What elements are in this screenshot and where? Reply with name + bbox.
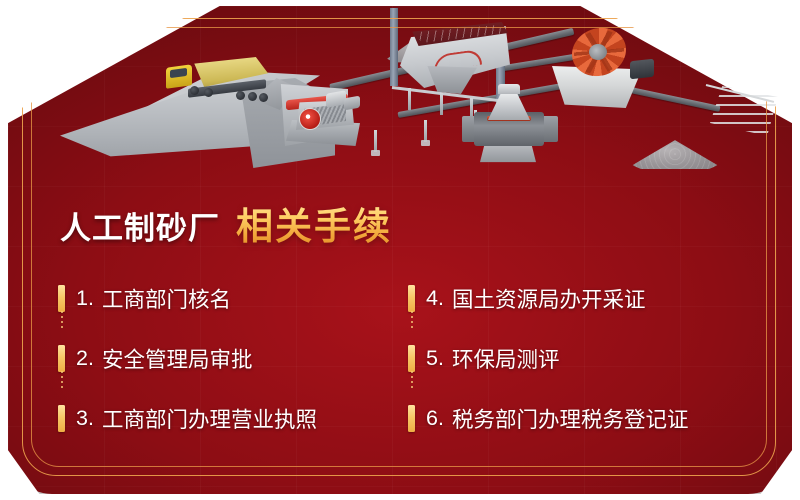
title-primary: 人工制砂厂 [60,203,220,248]
list-item[interactable]: 3. 工商部门办理营业执照 [58,388,408,448]
list-item[interactable]: 4. 国土资源局办开采证 [408,268,758,328]
list-item-number: 5. [426,346,444,371]
list-item-number: 3. [76,406,94,431]
bullet-bar-icon [58,285,65,312]
list-item-number: 1. [76,286,94,311]
list-item-number: 4. [426,286,444,311]
connector-dots-icon [411,311,413,329]
list-item-number: 2. [76,346,94,371]
bullet-bar-icon [408,405,415,432]
list-item-label: 安全管理局审批 [102,343,253,374]
bullet-bar-icon [58,345,65,372]
page-title: 人工制砂厂 相关手续 [60,196,392,250]
connector-dots-icon [61,371,63,389]
connector-dots-icon [411,371,413,389]
bullet-bar-icon [58,405,65,432]
list-item-label: 税务部门办理税务登记证 [452,403,689,434]
list-item-label: 国土资源局办开采证 [452,283,646,314]
procedure-list: 1. 工商部门核名 4. 国土资源局办开采证 2. 安全管理局审批 5. 环保局… [58,268,758,448]
list-item-label: 工商部门办理营业执照 [102,403,317,434]
list-item[interactable]: 2. 安全管理局审批 [58,328,408,388]
list-item[interactable]: 1. 工商部门核名 [58,268,408,328]
list-item[interactable]: 5. 环保局测评 [408,328,758,388]
list-item-number: 6. [426,406,444,431]
bullet-bar-icon [408,285,415,312]
list-item-label: 工商部门核名 [102,283,231,314]
connector-dots-icon [61,311,63,329]
banner-root: 人工制砂厂 相关手续 1. 工商部门核名 4. 国土资源局办开采证 2. 安全管… [0,0,800,500]
title-highlight: 相关手续 [236,196,392,250]
list-item-label: 环保局测评 [452,343,560,374]
list-item[interactable]: 6. 税务部门办理税务登记证 [408,388,758,448]
bullet-bar-icon [408,345,415,372]
